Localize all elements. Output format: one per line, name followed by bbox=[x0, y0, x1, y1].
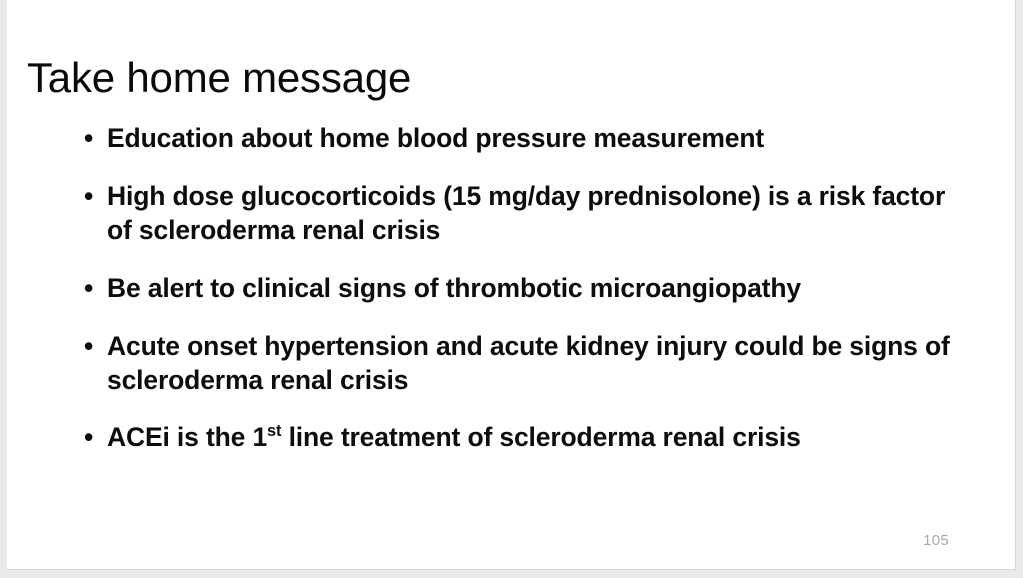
bullet-list: • Education about home blood pressure me… bbox=[81, 122, 971, 455]
bullet-point-icon: • bbox=[84, 421, 93, 455]
bullet-point-icon: • bbox=[84, 180, 93, 214]
list-item-label: ACEi is the 1st line treatment of sclero… bbox=[107, 422, 801, 452]
page-title: Take home message bbox=[27, 54, 411, 101]
bullet-point-icon: • bbox=[84, 330, 93, 364]
list-item: • High dose glucocorticoids (15 mg/day p… bbox=[81, 180, 971, 248]
bullet-point-icon: • bbox=[84, 122, 93, 156]
list-item-label: High dose glucocorticoids (15 mg/day pre… bbox=[107, 181, 945, 245]
slide-canvas: Take home message • Education about home… bbox=[7, 0, 1016, 570]
slide-viewport: Take home message • Education about home… bbox=[0, 0, 1023, 578]
bullet-point-icon: • bbox=[84, 272, 93, 306]
page-number: 105 bbox=[923, 532, 949, 549]
list-item-label: Acute onset hypertension and acute kidne… bbox=[107, 331, 950, 395]
list-item-label: Be alert to clinical signs of thrombotic… bbox=[107, 273, 801, 303]
list-item: • Acute onset hypertension and acute kid… bbox=[81, 330, 971, 398]
list-item: • Education about home blood pressure me… bbox=[81, 122, 971, 156]
ordinal-superscript: st bbox=[267, 423, 281, 441]
list-item: • ACEi is the 1st line treatment of scle… bbox=[81, 421, 971, 455]
list-item-label-post: line treatment of scleroderma renal cris… bbox=[281, 422, 800, 452]
list-item-label: Education about home blood pressure meas… bbox=[107, 123, 764, 153]
list-item-label-pre: ACEi is the 1 bbox=[107, 422, 267, 452]
list-item: • Be alert to clinical signs of thrombot… bbox=[81, 272, 971, 306]
